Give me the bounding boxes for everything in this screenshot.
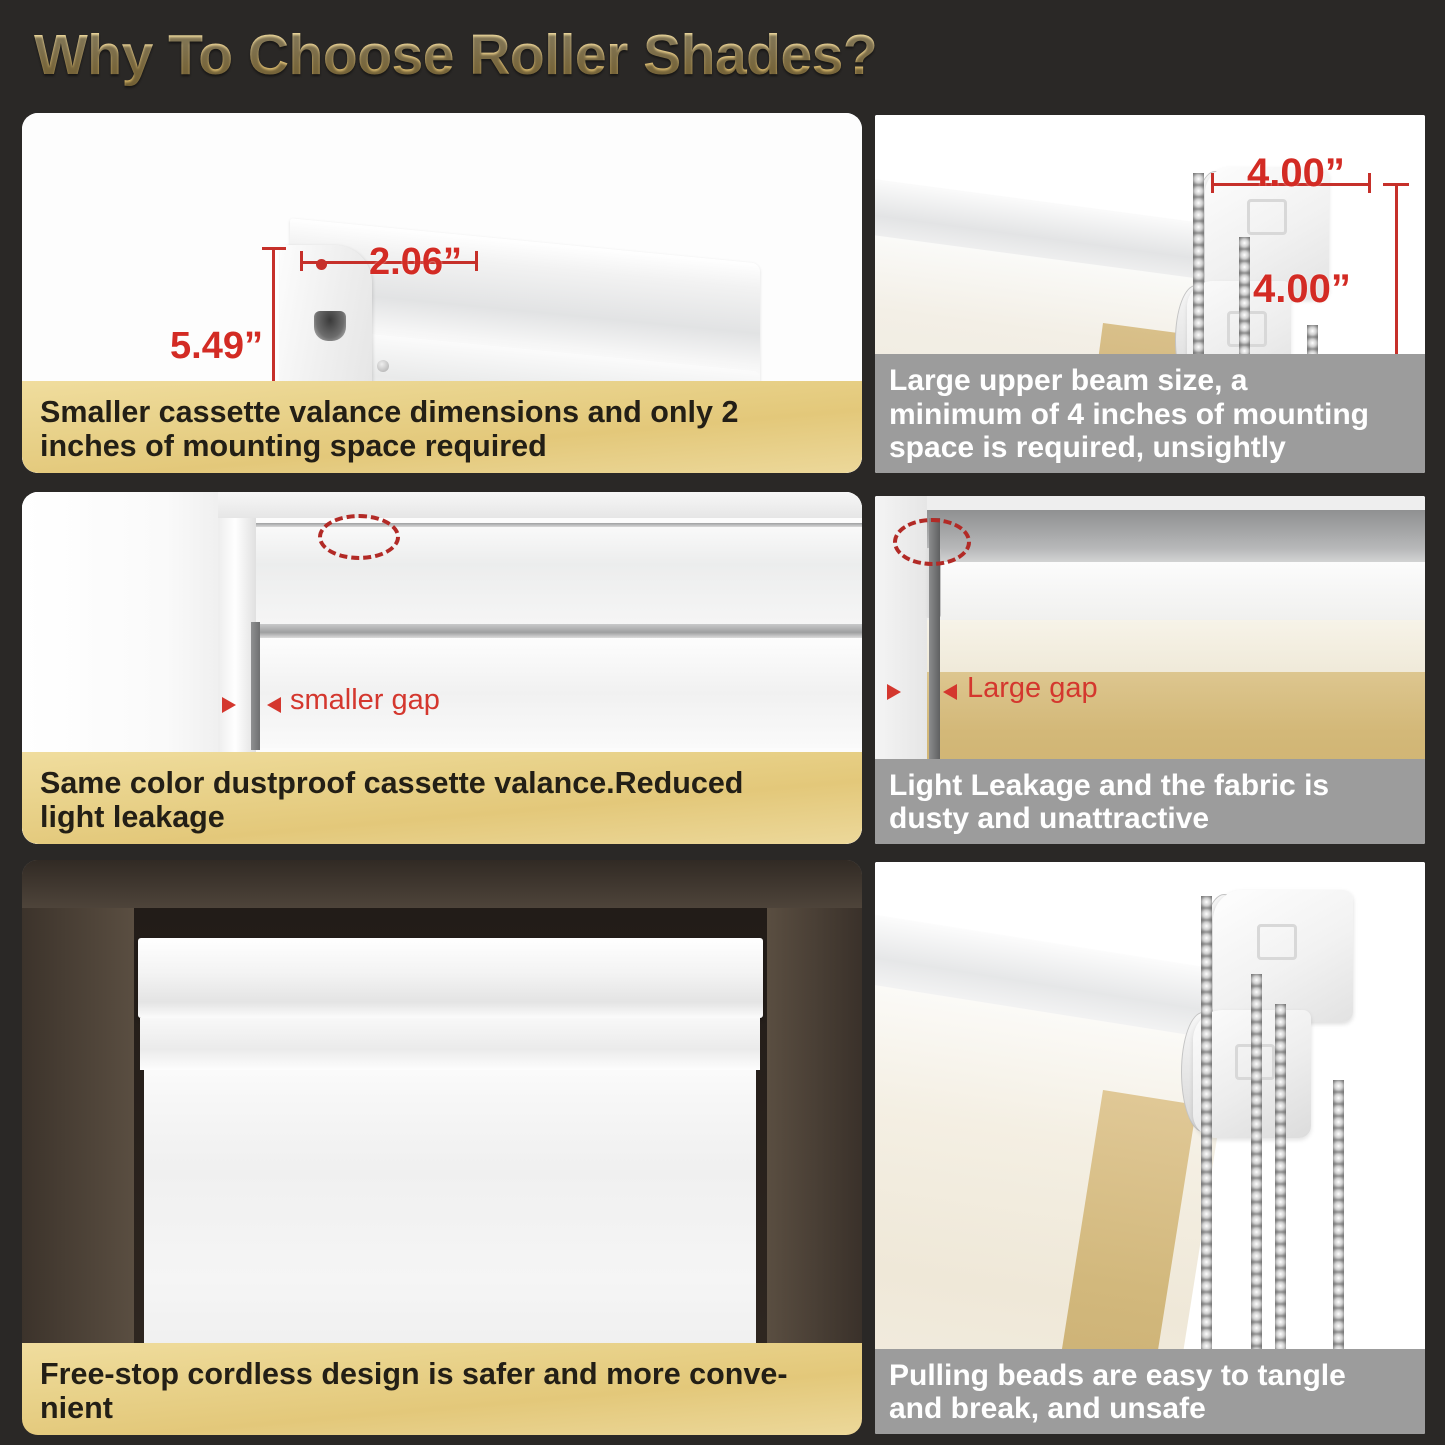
gap-highlight-ellipse xyxy=(893,518,971,566)
large-gap-label: Large gap xyxy=(967,672,1098,705)
caption-pulling-beads-tangle: Pulling beads are easy to tangle and bre… xyxy=(875,1349,1425,1434)
seam-highlight-ellipse xyxy=(318,514,400,560)
width-dimension-tick-right xyxy=(475,251,478,271)
caption-line: minimum of 4 inches of mounting xyxy=(889,398,1411,432)
caption-line: space is required, unsightly xyxy=(889,431,1411,465)
bracket-emblem-icon xyxy=(1257,924,1297,960)
caption-line: dusty and unattractive xyxy=(889,802,1411,836)
page-header: Why To Choose Roller Shades? xyxy=(0,0,1445,110)
cassette-valance xyxy=(138,938,763,1018)
bead-chain[interactable] xyxy=(1275,1004,1286,1408)
caption-dustproof-cassette-valance: Same color dustproof cassette valance.Re… xyxy=(22,752,862,844)
bracket-emblem-icon xyxy=(1247,199,1287,235)
caption-line: light leakage xyxy=(40,800,844,834)
height-dimension-tick-top xyxy=(262,247,286,250)
bead-chain[interactable] xyxy=(1201,896,1212,1406)
caption-large-upper-beam: Large upper beam size, a minimum of 4 in… xyxy=(875,354,1425,473)
panel-light-leakage-dusty-fabric: Large gap Light Leakage and the fabric i… xyxy=(875,496,1425,844)
gap-arrow-right-icon xyxy=(943,684,957,700)
beam-height-dimension-label: 4.00” xyxy=(1253,267,1351,312)
beam-width-tick-right xyxy=(1368,173,1371,193)
caption-cassette-valance-dimensions: Smaller cassette valance dimensions and … xyxy=(22,381,862,473)
page-title: Why To Choose Roller Shades? xyxy=(34,22,877,88)
caption-line: Light Leakage and the fabric is xyxy=(889,769,1411,803)
gap-arrow-right-icon xyxy=(267,697,281,713)
panel-free-stop-cordless-design: Free-stop cordless design is safer and m… xyxy=(22,860,862,1435)
gap-arrow-left-icon xyxy=(222,697,236,713)
panel-large-upper-beam: 4.00” 4.00” Large upper beam size, a min… xyxy=(875,115,1425,473)
caption-line: Pulling beads are easy to tangle xyxy=(889,1359,1411,1393)
caption-line: Large upper beam size, a xyxy=(889,364,1411,398)
panel-pulling-beads-tangle: Pulling beads are easy to tangle and bre… xyxy=(875,862,1425,1434)
caption-free-stop-cordless-design: Free-stop cordless design is safer and m… xyxy=(22,1343,862,1435)
beam-width-dimension-label: 4.00” xyxy=(1247,151,1345,196)
beam-width-tick-left xyxy=(1211,173,1214,193)
height-dimension-label: 5.49” xyxy=(170,325,263,368)
caption-line: Smaller cassette valance dimensions and … xyxy=(40,395,844,429)
smaller-gap-label: smaller gap xyxy=(290,684,440,717)
caption-line: and break, and unsafe xyxy=(889,1392,1411,1426)
panel-dustproof-cassette-valance: smaller gap Same color dustproof cassett… xyxy=(22,492,862,844)
caption-line: Free-stop cordless design is safer and m… xyxy=(40,1357,844,1391)
caption-line: nient xyxy=(40,1391,844,1425)
gap-arrow-left-icon xyxy=(887,684,901,700)
caption-line: inches of mounting space required xyxy=(40,429,844,463)
caption-line: Same color dustproof cassette valance.Re… xyxy=(40,766,844,800)
caption-light-leakage-dusty-fabric: Light Leakage and the fabric is dusty an… xyxy=(875,759,1425,844)
bead-chain[interactable] xyxy=(1251,974,1262,1408)
panel-cassette-valance-dimensions: 5.49” 2.06” Smaller cassette valance dim… xyxy=(22,113,862,473)
beam-height-tick-top xyxy=(1383,183,1409,186)
width-dimension-label: 2.06” xyxy=(369,241,462,284)
width-dimension-tick-left xyxy=(300,251,303,271)
